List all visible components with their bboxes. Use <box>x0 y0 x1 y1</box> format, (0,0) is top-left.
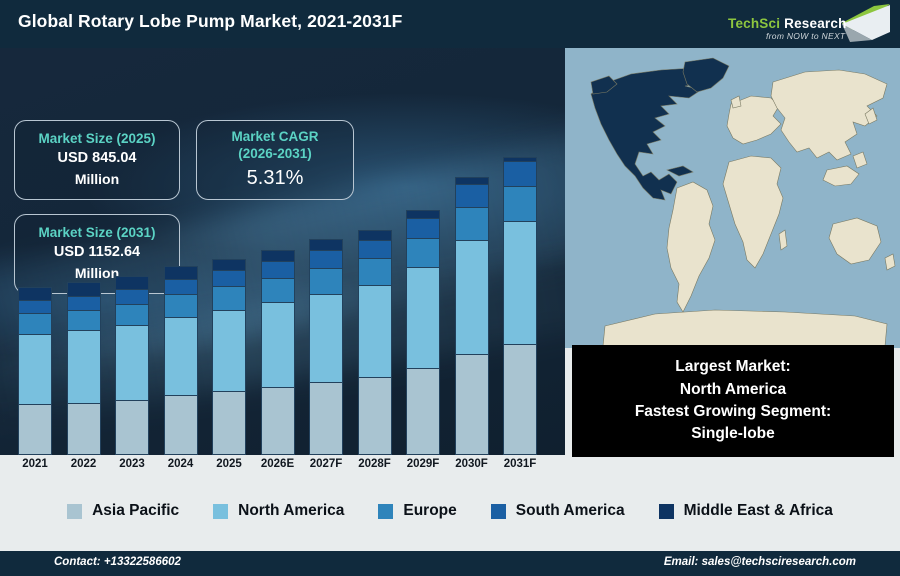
bar-segment-europe <box>18 313 52 333</box>
x-tick-2031F: 2031F <box>492 458 548 470</box>
bar-segment-europe <box>406 238 440 267</box>
bar-segment-asia-pacific <box>164 395 198 455</box>
bar-2023 <box>115 276 149 455</box>
bar-segment-europe <box>164 294 198 317</box>
bar-2022 <box>67 282 101 455</box>
world-map-svg <box>565 48 900 348</box>
bar-segment-middle-east-africa <box>18 287 52 300</box>
bar-segment-north-america <box>164 317 198 395</box>
infographic-page: Global Rotary Lobe Pump Market, 2021-203… <box>0 0 900 576</box>
bar-segment-north-america <box>18 334 52 405</box>
bar-segment-europe <box>67 310 101 331</box>
bar-segment-south-america <box>358 240 392 258</box>
bar-2021 <box>18 287 52 455</box>
legend-item-south-america[interactable]: South America <box>491 502 625 520</box>
bar-segment-europe <box>455 207 489 240</box>
bar-segment-south-america <box>455 184 489 206</box>
legend-item-asia-pacific[interactable]: Asia Pacific <box>67 502 179 520</box>
legend-item-europe[interactable]: Europe <box>378 502 456 520</box>
bar-segment-north-america <box>358 285 392 377</box>
bar-segment-middle-east-africa <box>67 282 101 295</box>
bar-segment-north-america <box>115 325 149 400</box>
header-bar: Global Rotary Lobe Pump Market, 2021-203… <box>0 0 900 48</box>
bar-segment-asia-pacific <box>358 377 392 455</box>
bar-segment-asia-pacific <box>309 382 343 455</box>
legend-item-middle-east-africa[interactable]: Middle East & Africa <box>659 502 833 520</box>
legend-item-north-america[interactable]: North America <box>213 502 344 520</box>
legend-label: Middle East & Africa <box>684 502 833 520</box>
key-facts-box: Largest Market: North America Fastest Gr… <box>572 345 894 457</box>
legend-swatch-icon <box>659 504 674 519</box>
legend-swatch-icon <box>67 504 82 519</box>
bar-segment-south-america <box>503 161 537 185</box>
legend-label: South America <box>516 502 625 520</box>
bar-segment-asia-pacific <box>115 400 149 455</box>
footer-bar: Contact: +13322586602 Email: sales@techs… <box>0 551 900 576</box>
bar-segment-asia-pacific <box>261 387 295 455</box>
contact-text: Contact: +13322586602 <box>54 556 181 568</box>
bar-2028F <box>358 230 392 455</box>
bar-segment-south-america <box>115 289 149 303</box>
bar-segment-europe <box>503 186 537 221</box>
bar-segment-middle-east-africa <box>455 177 489 184</box>
logo-text-techsci: TechSci <box>728 16 780 31</box>
bar-segment-europe <box>358 258 392 285</box>
bar-2026E <box>261 250 295 455</box>
email-text: Email: sales@techsciresearch.com <box>664 556 856 568</box>
logo-tagline: from NOW to NEXT <box>766 31 845 41</box>
bar-segment-middle-east-africa <box>212 259 246 271</box>
bar-2024 <box>164 266 198 455</box>
bar-2029F <box>406 210 440 455</box>
bar-segment-middle-east-africa <box>164 266 198 278</box>
bar-segment-asia-pacific <box>212 391 246 455</box>
bar-segment-asia-pacific <box>406 368 440 455</box>
legend-swatch-icon <box>213 504 228 519</box>
x-axis: 202120222023202420252026E2027F2028F2029F… <box>0 455 565 477</box>
fastest-segment-label: Fastest Growing Segment: <box>635 401 831 423</box>
bar-2031F <box>503 157 537 455</box>
legend-label: Asia Pacific <box>92 502 179 520</box>
legend-label: North America <box>238 502 344 520</box>
bar-segment-south-america <box>18 300 52 313</box>
bar-segment-europe <box>212 286 246 310</box>
bar-segment-north-america <box>309 294 343 382</box>
bar-segment-asia-pacific <box>503 344 537 455</box>
bar-segment-middle-east-africa <box>115 276 149 289</box>
bar-segment-north-america <box>406 267 440 368</box>
bar-segment-south-america <box>406 218 440 238</box>
stacked-bar-chart <box>0 48 565 455</box>
techsci-research-logo: TechSci Research from NOW to NEXT <box>722 2 892 46</box>
chart-legend: Asia PacificNorth AmericaEuropeSouth Ame… <box>0 477 900 545</box>
largest-market-value: North America <box>680 379 786 401</box>
bar-segment-north-america <box>455 240 489 354</box>
fastest-segment-value: Single-lobe <box>691 423 775 445</box>
bar-segment-middle-east-africa <box>406 210 440 219</box>
world-map <box>565 48 900 348</box>
bar-segment-middle-east-africa <box>358 230 392 240</box>
legend-swatch-icon <box>378 504 393 519</box>
largest-market-label: Largest Market: <box>675 356 790 378</box>
bar-2030F <box>455 177 489 455</box>
bar-segment-europe <box>261 278 295 303</box>
bar-segment-north-america <box>67 330 101 403</box>
bar-segment-south-america <box>309 250 343 268</box>
bar-segment-south-america <box>261 261 295 278</box>
logo-wordmark: TechSci Research <box>728 16 847 31</box>
bar-segment-south-america <box>164 279 198 294</box>
bar-segment-asia-pacific <box>67 403 101 455</box>
bar-2027F <box>309 239 343 455</box>
bar-segment-north-america <box>261 302 295 386</box>
page-title: Global Rotary Lobe Pump Market, 2021-203… <box>18 11 402 32</box>
bar-segment-middle-east-africa <box>261 250 295 261</box>
chart-panel: Market Size (2025) USD 845.04 Million Ma… <box>0 48 565 455</box>
bar-segment-north-america <box>212 310 246 391</box>
bar-segment-asia-pacific <box>455 354 489 455</box>
bar-segment-middle-east-africa <box>309 239 343 250</box>
bar-segment-south-america <box>67 296 101 310</box>
bar-segment-south-america <box>212 270 246 286</box>
bar-2025 <box>212 259 246 455</box>
logo-text-research: Research <box>780 16 846 31</box>
legend-label: Europe <box>403 502 456 520</box>
bar-segment-north-america <box>503 221 537 344</box>
bar-segment-asia-pacific <box>18 404 52 455</box>
bar-segment-europe <box>115 304 149 325</box>
legend-swatch-icon <box>491 504 506 519</box>
bar-segment-europe <box>309 268 343 294</box>
